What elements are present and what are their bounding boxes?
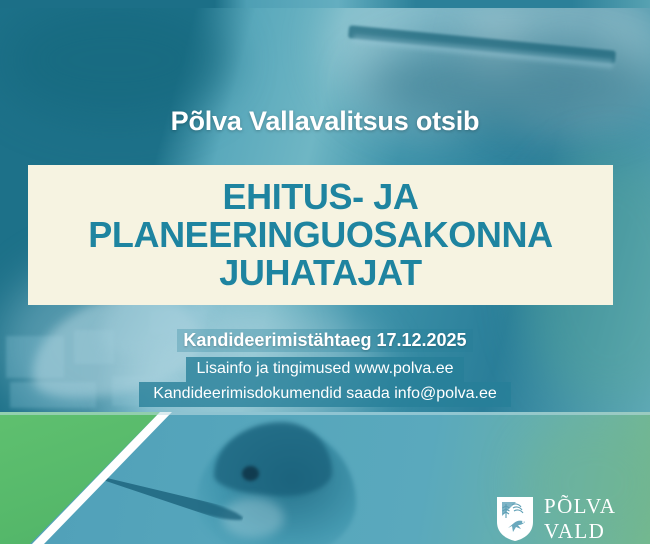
kingfisher-eye — [242, 466, 259, 481]
job-advertisement-poster: Põlva Vallavalitsus otsib EHITUS- JA PLA… — [0, 0, 650, 544]
footer-top-edge — [0, 412, 650, 415]
kingfisher-crown — [214, 422, 332, 496]
logo-text: PÕLVA VALD — [544, 494, 650, 544]
polva-coat-of-arms-icon — [496, 496, 534, 542]
job-title-card: EHITUS- JA PLANEERINGUOSAKONNA JUHATAJAT — [28, 165, 613, 305]
top-edge-band — [0, 0, 650, 8]
info-block: Lisainfo ja tingimused www.polva.ee Kand… — [0, 357, 650, 407]
info-line-website[interactable]: Lisainfo ja tingimused www.polva.ee — [186, 357, 463, 382]
info-line-email[interactable]: Kandideerimisdokumendid saada info@polva… — [139, 382, 511, 407]
job-title-line-2: PLANEERINGUOSAKONNA — [88, 216, 552, 254]
job-title-line-1: EHITUS- JA — [222, 178, 418, 216]
polva-vald-logo[interactable]: PÕLVA VALD — [496, 494, 650, 544]
job-title-line-3: JUHATAJAT — [219, 254, 421, 292]
application-deadline: Kandideerimistähtaeg 17.12.2025 — [177, 329, 472, 352]
headline: Põlva Vallavalitsus otsib — [0, 106, 650, 137]
deadline-row: Kandideerimistähtaeg 17.12.2025 — [0, 329, 650, 352]
